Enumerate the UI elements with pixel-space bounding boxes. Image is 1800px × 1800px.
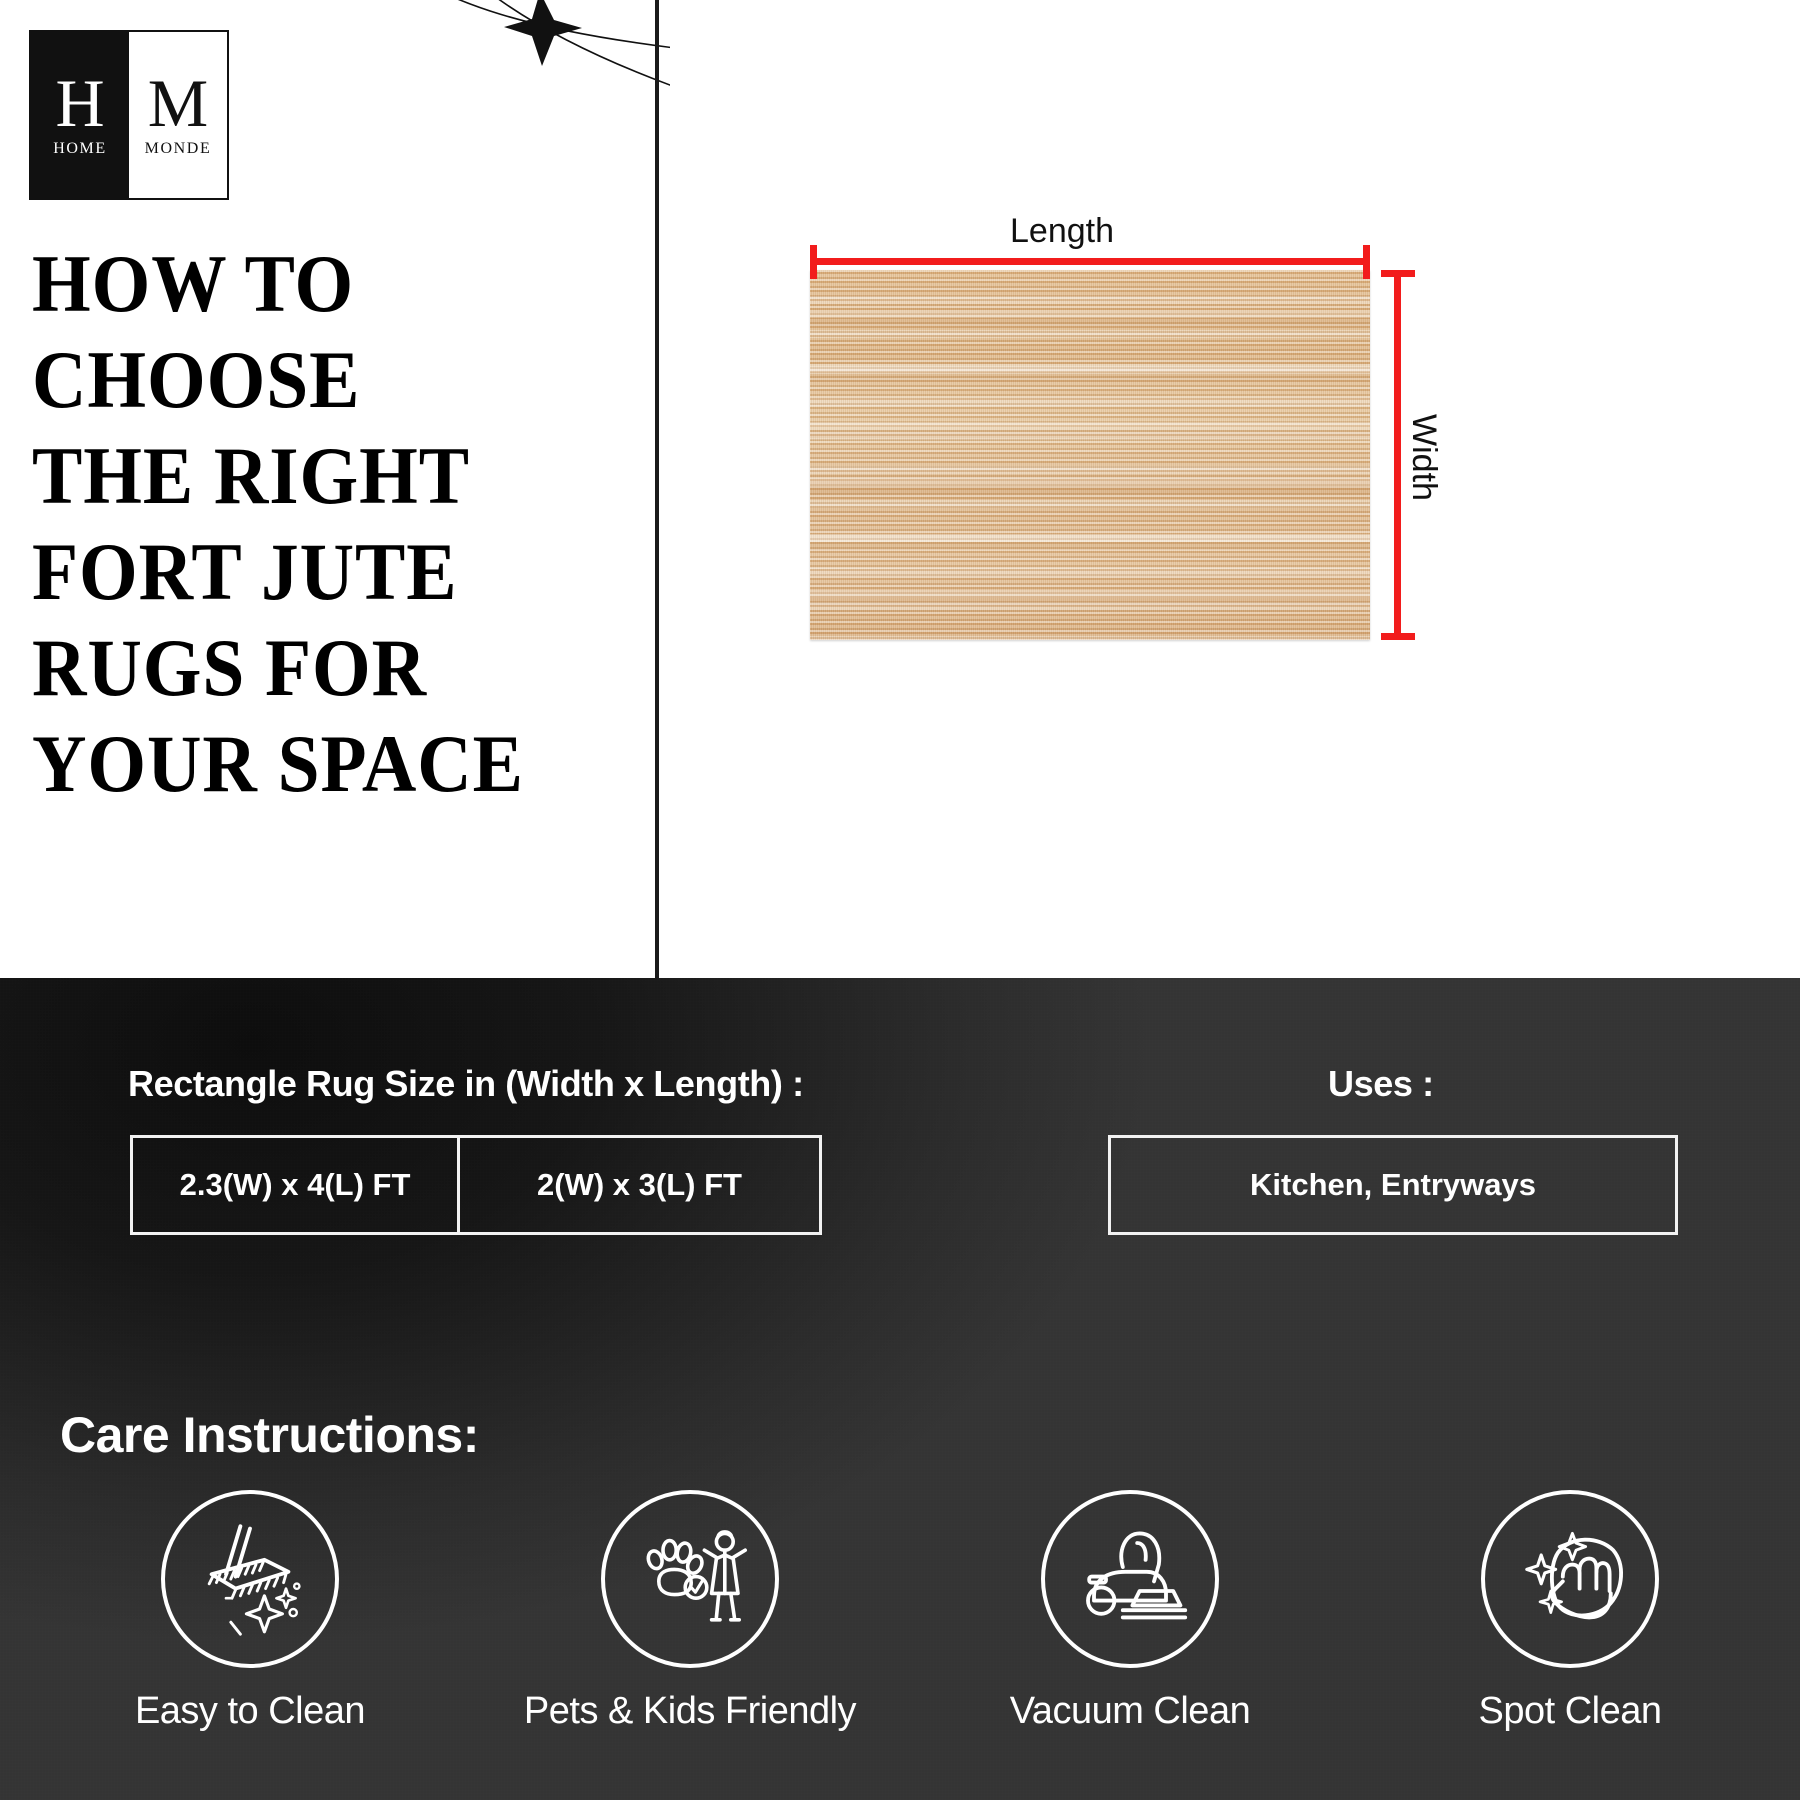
jute-rug-image <box>810 270 1370 640</box>
width-dimension-line <box>1394 270 1401 640</box>
rug-sizes-table: 2.3(W) x 4(L) FT 2(W) x 3(L) FT <box>130 1135 822 1235</box>
page-title: HOW TO CHOOSE THE RIGHT FORT JUTE RUGS F… <box>32 236 632 812</box>
care-instructions-heading: Care Instructions: <box>60 1406 479 1464</box>
length-dimension-cap-right <box>1363 245 1370 279</box>
length-label: Length <box>1010 212 1114 251</box>
care-item-pets-kids-friendly: Pets & Kids Friendly <box>470 1490 910 1733</box>
care-label-pets-kids-friendly: Pets & Kids Friendly <box>524 1690 856 1733</box>
care-label-easy-to-clean: Easy to Clean <box>135 1690 365 1733</box>
logo-right-word: MONDE <box>145 140 212 158</box>
hand-wipe-sparkle-icon <box>1510 1519 1630 1639</box>
care-icon-circle <box>1481 1490 1659 1668</box>
care-icon-circle <box>601 1490 779 1668</box>
care-icon-circle <box>1041 1490 1219 1668</box>
logo-right-letter: M <box>148 72 208 135</box>
uses-table: Kitchen, Entryways <box>1108 1135 1678 1235</box>
uses-value-1: Kitchen, Entryways <box>1111 1138 1675 1232</box>
logo-left-word: HOME <box>53 140 107 158</box>
care-label-spot-clean: Spot Clean <box>1478 1690 1661 1733</box>
headline-line-4: FORT JUTE <box>32 524 584 620</box>
headline-line-5: RUGS FOR <box>32 620 584 716</box>
logo-right-half: M MONDE <box>129 32 227 198</box>
top-white-section: H HOME M MONDE HOW TO CHOOSE THE RIGHT F… <box>0 0 1800 978</box>
vacuum-icon <box>1070 1519 1190 1639</box>
headline-line-2: CHOOSE <box>32 332 584 428</box>
care-item-easy-to-clean: Easy to Clean <box>30 1490 470 1733</box>
width-label: Width <box>1404 414 1443 501</box>
headline-line-6: YOUR SPACE <box>32 716 584 812</box>
headline-line-1: HOW TO <box>32 236 584 332</box>
logo-left-half: H HOME <box>31 32 129 198</box>
rug-size-option-2: 2(W) x 3(L) FT <box>460 1138 819 1232</box>
rug-size-option-1: 2.3(W) x 4(L) FT <box>133 1138 460 1232</box>
brand-logo: H HOME M MONDE <box>29 30 229 200</box>
care-icon-circle <box>161 1490 339 1668</box>
care-item-vacuum-clean: Vacuum Clean <box>910 1490 1350 1733</box>
care-instructions-row: Easy to Clean <box>30 1490 1790 1790</box>
decorative-sparkle-lines <box>330 0 670 110</box>
broom-sparkle-icon <box>190 1519 310 1639</box>
rug-dimension-diagram: Length Width <box>780 200 1680 700</box>
width-dimension-cap-bottom <box>1381 633 1415 640</box>
logo-left-letter: H <box>55 72 104 135</box>
care-label-vacuum-clean: Vacuum Clean <box>1010 1690 1250 1733</box>
width-dimension-cap-top <box>1381 270 1415 277</box>
paw-child-icon <box>630 1519 750 1639</box>
column-divider <box>655 0 659 978</box>
headline-line-3: THE RIGHT <box>32 428 584 524</box>
length-dimension-line <box>810 258 1370 265</box>
sizes-heading: Rectangle Rug Size in (Width x Length) : <box>128 1063 804 1105</box>
length-dimension-cap-left <box>810 245 817 279</box>
uses-heading: Uses : <box>1328 1063 1434 1105</box>
care-item-spot-clean: Spot Clean <box>1350 1490 1790 1733</box>
